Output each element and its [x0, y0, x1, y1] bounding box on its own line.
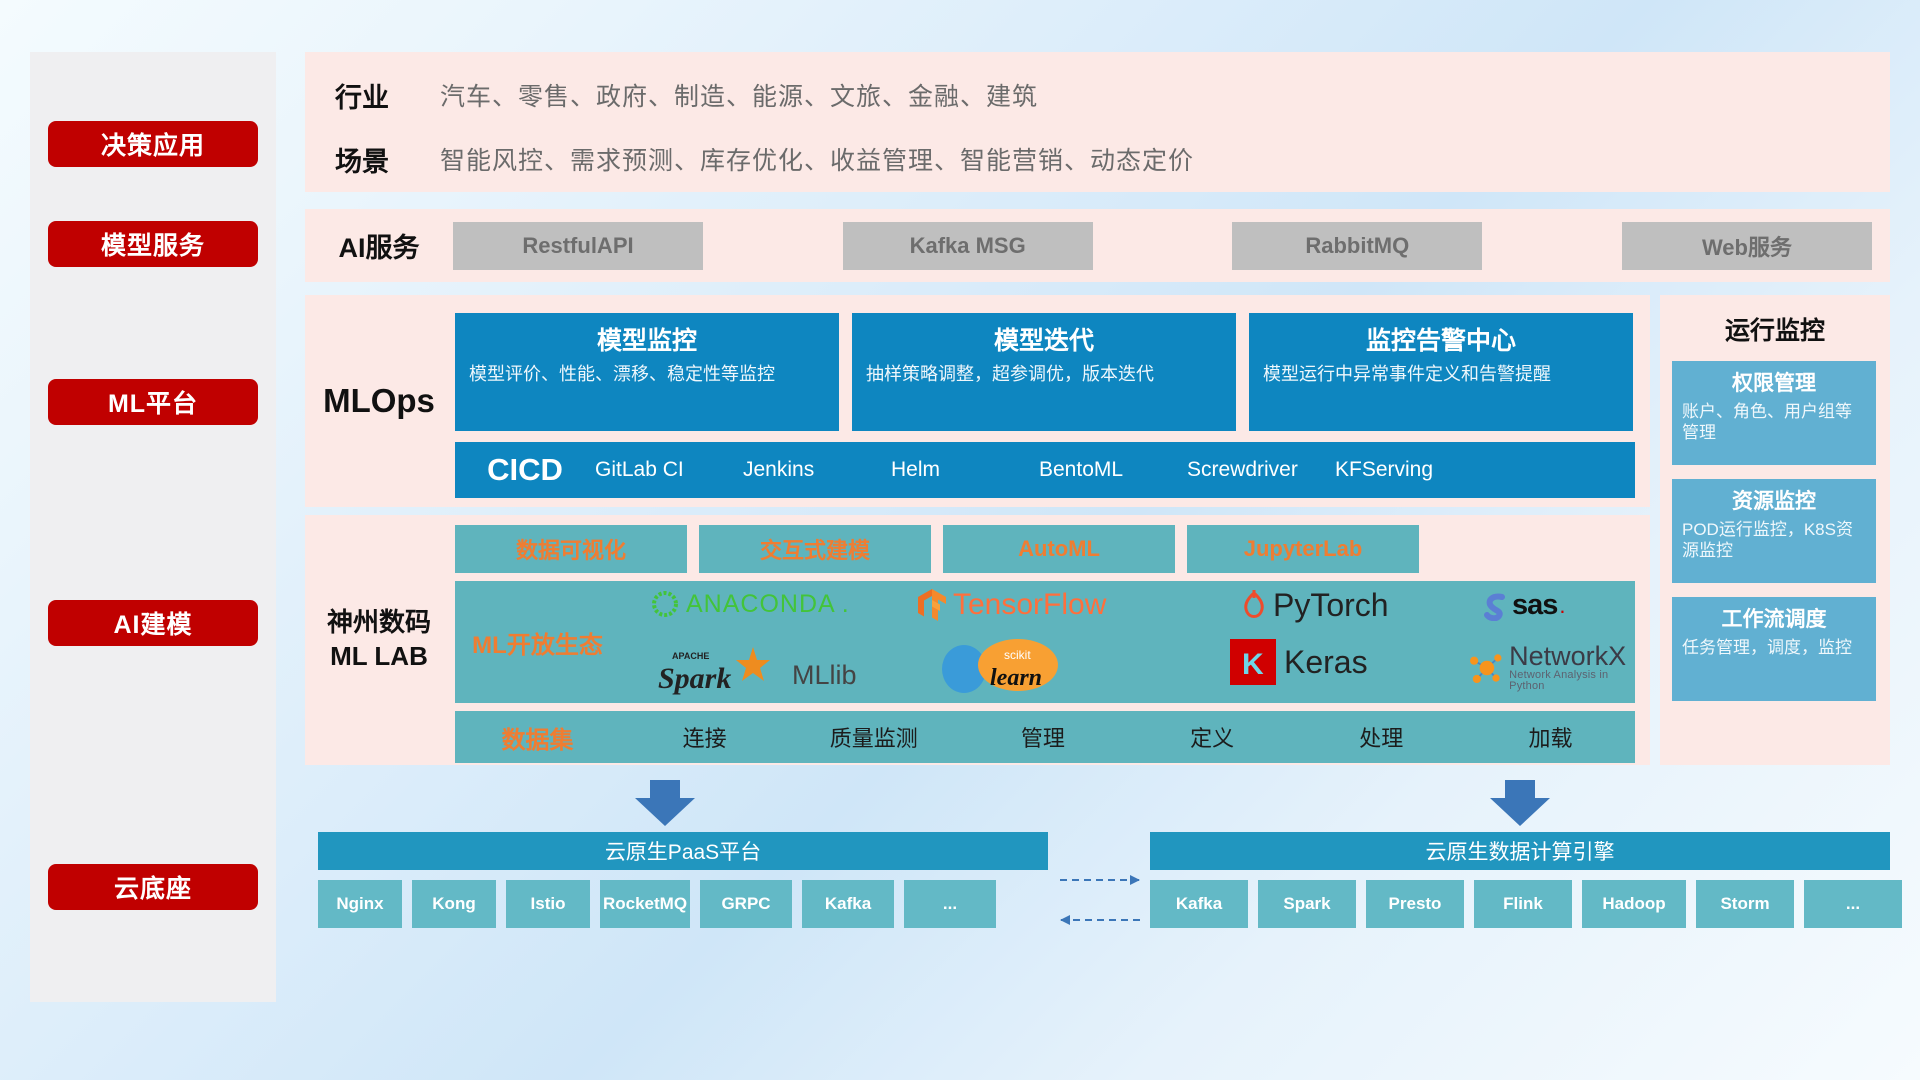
networkx-wordmark: NetworkX — [1509, 643, 1635, 670]
card-title: 监控告警中心 — [1263, 321, 1619, 357]
dataset-item-manage[interactable]: 管理 — [958, 721, 1127, 753]
node-rocketmq[interactable]: RocketMQ — [600, 880, 690, 928]
node-spark[interactable]: Spark — [1258, 880, 1356, 928]
arrow-up-left-icon — [635, 780, 695, 826]
paas-node-row: Nginx Kong Istio RocketMQ GRPC Kafka ... — [318, 880, 996, 928]
dataset-item-define[interactable]: 定义 — [1128, 721, 1297, 753]
pytorch-wordmark: PyTorch — [1273, 587, 1389, 624]
node-hadoop[interactable]: Hadoop — [1582, 880, 1686, 928]
node-flink[interactable]: Flink — [1474, 880, 1572, 928]
anaconda-logo: ANACONDA . — [650, 589, 849, 619]
cicd-items: GitLab CI Jenkins Helm BentoML Screwdriv… — [595, 458, 1635, 481]
scikit-learn-icon: scikit learn — [938, 639, 1088, 695]
layer-chip-cloud-base[interactable]: 云底座 — [48, 864, 258, 910]
scikit-learn-logo: scikit learn — [938, 639, 1088, 695]
layer-chip-ai-modeling[interactable]: AI建模 — [48, 600, 258, 646]
card-title: 模型迭代 — [866, 321, 1222, 357]
node-istio[interactable]: Istio — [506, 880, 590, 928]
scenario-row: 场景 智能风控、需求预测、库存优化、收益管理、智能营销、动态定价 — [335, 134, 1890, 184]
layer-chip-model-svc[interactable]: 模型服务 — [48, 221, 258, 267]
arrow-up-right-icon — [1490, 780, 1550, 826]
mlops-band: MLOps 模型监控 模型评价、性能、漂移、稳定性等监控 模型迭代 抽样策略调整… — [305, 295, 1650, 507]
card-desc: 账户、角色、用户组等管理 — [1682, 401, 1866, 444]
service-chip-rabbitmq[interactable]: RabbitMQ — [1232, 222, 1482, 270]
keras-wordmark: Keras — [1284, 644, 1368, 681]
cicd-item-jenkins[interactable]: Jenkins — [743, 458, 891, 481]
anaconda-wordmark: ANACONDA — [686, 590, 836, 619]
dataset-item-quality[interactable]: 质量监测 — [789, 721, 958, 753]
mlops-card-alert-center[interactable]: 监控告警中心 模型运行中异常事件定义和告警提醒 — [1249, 313, 1633, 431]
service-chip-kafka-msg[interactable]: Kafka MSG — [843, 222, 1093, 270]
mllib-wordmark: MLlib — [792, 660, 857, 691]
networkx-tagline: Network Analysis in Python — [1509, 670, 1635, 692]
ai-service-band: AI服务 RestfulAPI Kafka MSG RabbitMQ Web服务 — [305, 209, 1890, 282]
ml-open-ecosystem-box: ML开放生态 ANACONDA . Te — [455, 581, 1635, 703]
monitor-card-workflow[interactable]: 工作流调度 任务管理，调度，监控 — [1672, 597, 1876, 701]
ai-modeling-band: 神州数码 ML LAB 数据可视化 交互式建模 AutoML JupyterLa… — [305, 515, 1650, 765]
card-title: 资源监控 — [1682, 485, 1866, 515]
dataset-item-process[interactable]: 处理 — [1297, 721, 1466, 753]
ai-service-items: RestfulAPI Kafka MSG RabbitMQ Web服务 — [453, 222, 1890, 270]
mlops-card-model-iteration[interactable]: 模型迭代 抽样策略调整，超参调优，版本迭代 — [852, 313, 1236, 431]
tensorflow-wordmark: TensorFlow — [953, 588, 1106, 622]
ml-lab-label: 神州数码 ML LAB — [305, 515, 453, 765]
tool-chip-data-visualization[interactable]: 数据可视化 — [455, 525, 687, 573]
ml-lab-label-line2: ML LAB — [330, 640, 428, 674]
card-title: 模型监控 — [469, 321, 825, 357]
service-chip-web[interactable]: Web服务 — [1622, 222, 1872, 270]
runtime-monitoring-title: 运行监控 — [1672, 311, 1878, 347]
sas-wordmark: sas — [1512, 589, 1557, 622]
card-desc: 模型运行中异常事件定义和告警提醒 — [1263, 363, 1619, 386]
decision-application-band: 行业 汽车、零售、政府、制造、能源、文旅、金融、建筑 场景 智能风控、需求预测、… — [305, 52, 1890, 192]
svg-text:learn: learn — [990, 665, 1042, 691]
node-more[interactable]: ... — [904, 880, 996, 928]
industry-row: 行业 汽车、零售、政府、制造、能源、文旅、金融、建筑 — [335, 70, 1890, 120]
node-presto[interactable]: Presto — [1366, 880, 1464, 928]
card-desc: 模型评价、性能、漂移、稳定性等监控 — [469, 363, 825, 386]
compute-node-row: Kafka Spark Presto Flink Hadoop Storm ..… — [1150, 880, 1902, 928]
spark-mllib-logo: APACHE Spark MLlib — [658, 643, 857, 695]
card-title: 工作流调度 — [1682, 603, 1866, 633]
layer-chip-ml-platform[interactable]: ML平台 — [48, 379, 258, 425]
modeling-tool-row: 数据可视化 交互式建模 AutoML JupyterLab — [455, 525, 1635, 573]
dataset-title: 数据集 — [455, 720, 620, 755]
cicd-title: CICD — [455, 452, 595, 488]
cicd-strip: CICD GitLab CI Jenkins Helm BentoML Scre… — [455, 442, 1635, 498]
dataset-item-connect[interactable]: 连接 — [620, 721, 789, 753]
layer-rail: 决策应用 模型服务 ML平台 AI建模 云底座 — [30, 52, 276, 1002]
card-desc: 抽样策略调整，超参调优，版本迭代 — [866, 363, 1222, 386]
ml-open-ecosystem-label: ML开放生态 — [455, 625, 620, 660]
svg-text:K: K — [1242, 648, 1264, 681]
layer-chip-decision[interactable]: 决策应用 — [48, 121, 258, 167]
service-chip-restfulapi[interactable]: RestfulAPI — [453, 222, 703, 270]
industry-values: 汽车、零售、政府、制造、能源、文旅、金融、建筑 — [440, 77, 1038, 113]
svg-text:APACHE: APACHE — [672, 651, 709, 661]
svg-text:scikit: scikit — [1004, 648, 1031, 662]
dataset-strip: 数据集 连接 质量监测 管理 定义 处理 加载 — [455, 711, 1635, 763]
pytorch-icon — [1240, 589, 1268, 623]
mlops-label: MLOps — [305, 295, 453, 507]
dataset-item-load[interactable]: 加载 — [1466, 721, 1635, 753]
keras-icon: K — [1230, 639, 1276, 685]
cicd-item-bentoml[interactable]: BentoML — [1039, 458, 1187, 481]
cicd-item-helm[interactable]: Helm — [891, 458, 1039, 481]
tool-chip-automl[interactable]: AutoML — [943, 525, 1175, 573]
keras-logo: K Keras — [1230, 639, 1368, 685]
cicd-item-screwdriver[interactable]: Screwdriver — [1187, 458, 1335, 481]
node-grpc[interactable]: GRPC — [700, 880, 792, 928]
node-storm[interactable]: Storm — [1696, 880, 1794, 928]
cicd-item-gitlab-ci[interactable]: GitLab CI — [595, 458, 743, 481]
networkx-logo: NetworkX Network Analysis in Python — [1465, 643, 1635, 692]
node-kafka-compute[interactable]: Kafka — [1150, 880, 1248, 928]
pytorch-logo: PyTorch — [1240, 587, 1389, 624]
mlops-cards: 模型监控 模型评价、性能、漂移、稳定性等监控 模型迭代 抽样策略调整，超参调优，… — [455, 313, 1635, 431]
node-more-compute[interactable]: ... — [1804, 880, 1902, 928]
tool-chip-jupyterlab[interactable]: JupyterLab — [1187, 525, 1419, 573]
spark-icon: APACHE Spark — [658, 643, 784, 695]
mlops-card-model-monitoring[interactable]: 模型监控 模型评价、性能、漂移、稳定性等监控 — [455, 313, 839, 431]
card-desc: 任务管理，调度，监控 — [1682, 637, 1866, 658]
scenario-label: 场景 — [335, 140, 440, 179]
industry-label: 行业 — [335, 76, 440, 115]
monitor-card-permission[interactable]: 权限管理 账户、角色、用户组等管理 — [1672, 361, 1876, 465]
paas-platform-bar[interactable]: 云原生PaaS平台 — [318, 832, 1048, 870]
cloud-base-section: 云原生PaaS平台 云原生数据计算引擎 Nginx Kong Istio Roc… — [305, 780, 1890, 1000]
card-title: 权限管理 — [1682, 367, 1866, 397]
tensorflow-logo: TensorFlow — [915, 587, 1106, 623]
node-kafka[interactable]: Kafka — [802, 880, 894, 928]
ai-service-label: AI服务 — [305, 226, 453, 265]
ml-lab-label-line1: 神州数码 — [327, 606, 431, 640]
ecosystem-logo-grid: ANACONDA . TensorFlow — [620, 581, 1635, 703]
networkx-icon — [1465, 648, 1505, 688]
monitor-card-resource[interactable]: 资源监控 POD运行监控，K8S资源监控 — [1672, 479, 1876, 583]
dataset-items: 连接 质量监测 管理 定义 处理 加载 — [620, 721, 1635, 753]
node-kong[interactable]: Kong — [412, 880, 496, 928]
runtime-monitoring-panel: 运行监控 权限管理 账户、角色、用户组等管理 资源监控 POD运行监控，K8S资… — [1660, 295, 1890, 765]
sas-icon — [1480, 591, 1510, 621]
cicd-item-kfserving[interactable]: KFServing — [1335, 458, 1483, 481]
tensorflow-icon — [915, 587, 949, 623]
sas-logo: sas . — [1480, 589, 1566, 622]
anaconda-icon — [650, 589, 680, 619]
data-compute-engine-bar[interactable]: 云原生数据计算引擎 — [1150, 832, 1890, 870]
card-desc: POD运行监控，K8S资源监控 — [1682, 519, 1866, 562]
scenario-values: 智能风控、需求预测、库存优化、收益管理、智能营销、动态定价 — [440, 141, 1194, 177]
tool-chip-interactive-modeling[interactable]: 交互式建模 — [699, 525, 931, 573]
svg-text:Spark: Spark — [658, 662, 731, 695]
node-nginx[interactable]: Nginx — [318, 880, 402, 928]
